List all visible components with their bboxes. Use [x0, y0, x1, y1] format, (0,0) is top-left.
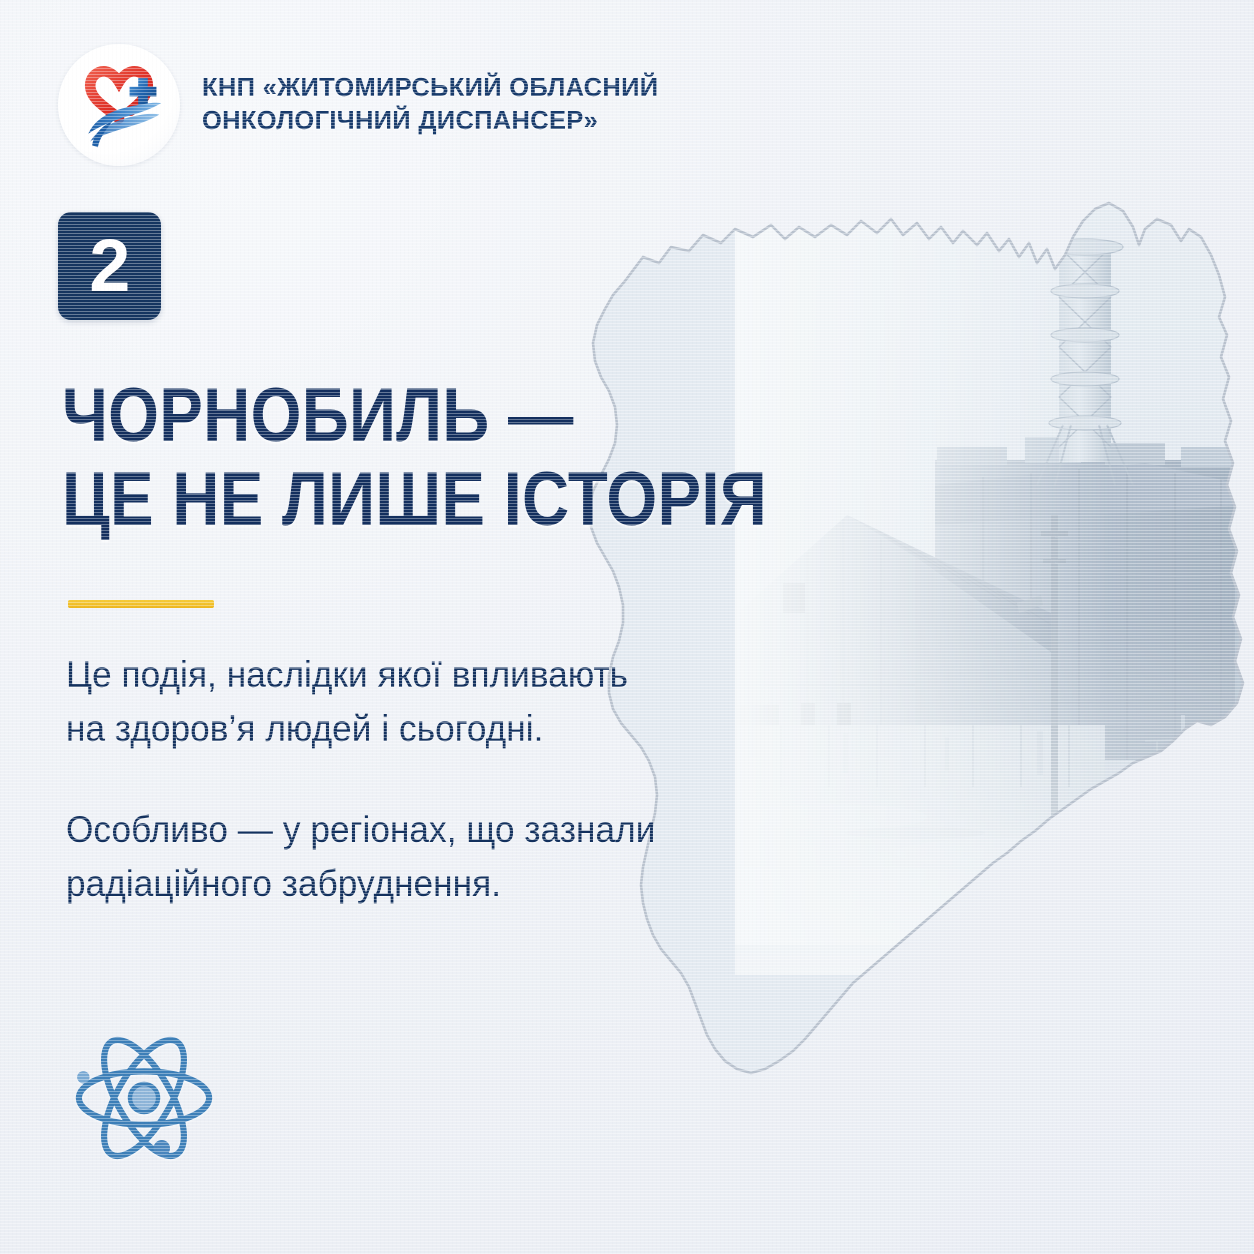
page-title: ЧОРНОБИЛЬ — ЦЕ НЕ ЛИШЕ ІСТОРІЯ — [62, 374, 767, 541]
slide-number-badge: 2 — [58, 212, 161, 320]
logo-badge — [58, 44, 180, 166]
divider-rule — [68, 600, 214, 608]
organization-name: КНП «ЖИТОМИРСЬКИЙ ОБЛАСНИЙ ОНКОЛОГІЧНИЙ … — [202, 72, 658, 138]
atom-icon — [70, 1022, 218, 1174]
heart-hand-cross-logo — [71, 57, 167, 153]
infographic-poster: КНП «ЖИТОМИРСЬКИЙ ОБЛАСНИЙ ОНКОЛОГІЧНИЙ … — [0, 0, 1254, 1254]
paragraph-2: Особливо — у регіонах, що зазнали радіац… — [66, 803, 712, 910]
body-copy: Це подія, наслідки якої впливають на здо… — [66, 648, 712, 911]
brand-header: КНП «ЖИТОМИРСЬКИЙ ОБЛАСНИЙ ОНКОЛОГІЧНИЙ … — [58, 44, 658, 166]
paragraph-1: Це подія, наслідки якої впливають на здо… — [66, 648, 712, 755]
slide-number: 2 — [89, 229, 129, 303]
atom-icon-wrapper — [70, 1022, 218, 1174]
